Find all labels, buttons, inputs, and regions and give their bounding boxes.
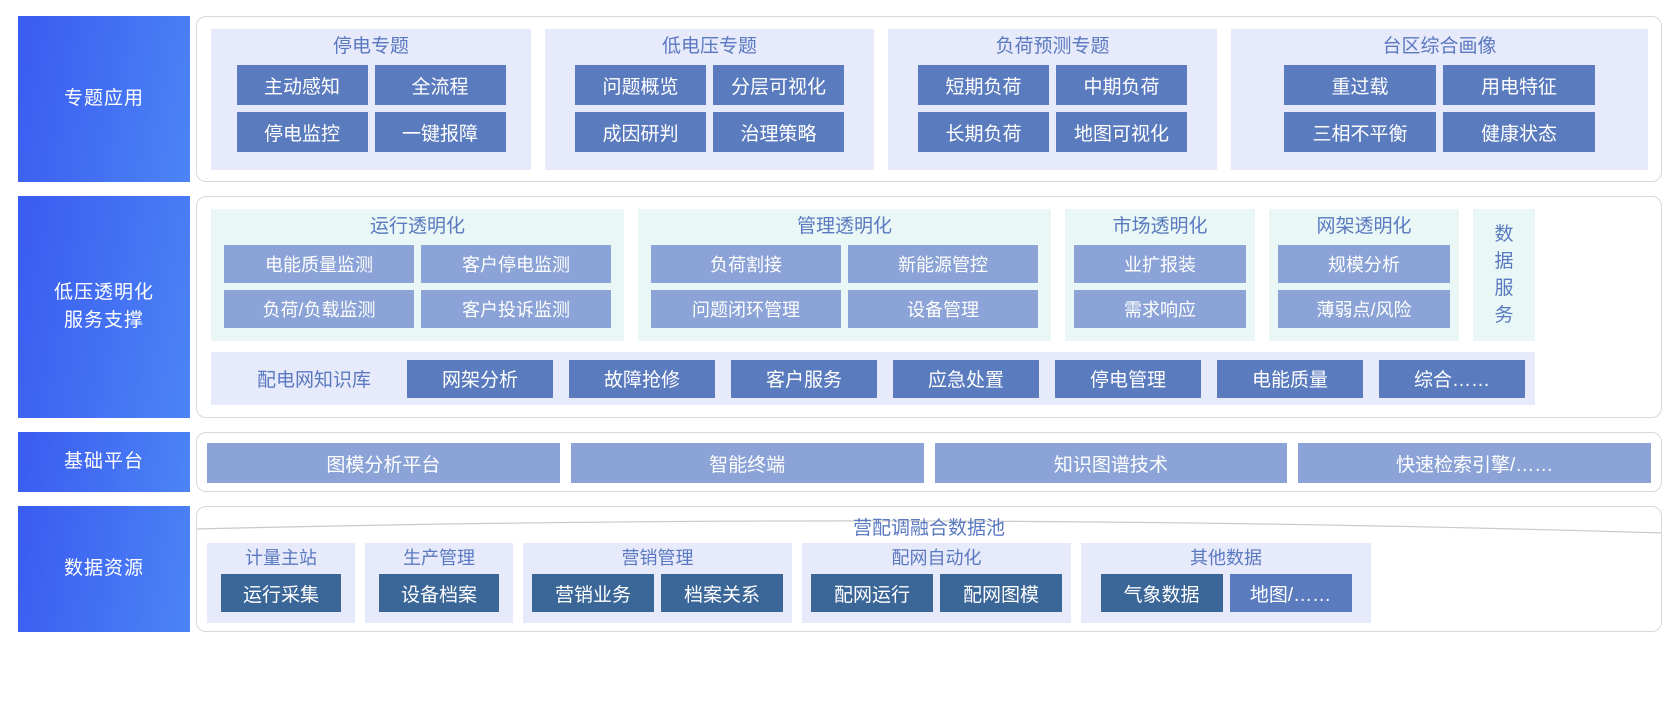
data-source-groups: 计量主站 运行采集 生产管理 设备档案 营销管理 营销业务 档案关系 配网 — [207, 543, 1653, 623]
tile-load-monitor[interactable]: 负荷/负载监测 — [224, 290, 414, 328]
group-production-management[interactable]: 生产管理 设备档案 — [365, 543, 513, 623]
tile-comprehensive[interactable]: 综合…… — [1379, 360, 1525, 398]
tile-layered-visual[interactable]: 分层可视化 — [713, 65, 844, 105]
application-layer-card: 停电专题 主动感知 全流程 停电监控 一键报障 低电压专题 问题概览 分层可视化… — [196, 16, 1662, 182]
tile-grid: 重过载 用电特征 三相不平衡 健康状态 — [1238, 65, 1641, 152]
platform-tiles: 图模分析平台 智能终端 知识图谱技术 快速检索引擎/…… — [207, 443, 1651, 483]
tile-distribution-graph-model[interactable]: 配网图模 — [940, 574, 1062, 612]
tile-outage-management[interactable]: 停电管理 — [1055, 360, 1201, 398]
tile-grid: 营销业务 档案关系 — [530, 574, 785, 612]
group-market-transparency[interactable]: 市场透明化 业扩报装 需求响应 — [1065, 209, 1255, 341]
tile-heavy-overload[interactable]: 重过载 — [1284, 65, 1436, 105]
tile-active-sensing[interactable]: 主动感知 — [237, 65, 368, 105]
tile-customer-complaint-monitor[interactable]: 客户投诉监测 — [421, 290, 611, 328]
tile-scale-analysis[interactable]: 规模分析 — [1278, 245, 1450, 283]
tile-operation-collection[interactable]: 运行采集 — [221, 574, 341, 612]
band-label-data-text: 数据资源 — [64, 555, 144, 583]
band-label-lv-transparency-text: 低压透明化 服务支撑 — [54, 279, 154, 334]
group-marketing-management[interactable]: 营销管理 营销业务 档案关系 — [523, 543, 792, 623]
tile-graph-model-platform[interactable]: 图模分析平台 — [207, 443, 560, 483]
group-title: 其他数据 — [1190, 546, 1262, 570]
tile-usage-feature[interactable]: 用电特征 — [1443, 65, 1595, 105]
tile-weather-data[interactable]: 气象数据 — [1101, 574, 1223, 612]
tile-mid-term-load[interactable]: 中期负荷 — [1056, 65, 1187, 105]
tile-grid-analysis[interactable]: 网架分析 — [407, 360, 553, 398]
tile-grid: 运行采集 — [214, 574, 348, 612]
tile-one-click-report[interactable]: 一键报障 — [375, 112, 506, 152]
knowledge-base-title: 配电网知识库 — [221, 365, 407, 392]
group-other-data[interactable]: 其他数据 气象数据 地图/…… — [1081, 543, 1371, 623]
band-label-platform-text: 基础平台 — [64, 448, 144, 476]
tile-device-management[interactable]: 设备管理 — [848, 290, 1038, 328]
tile-map-visual[interactable]: 地图可视化 — [1056, 112, 1187, 152]
tile-grid: 短期负荷 中期负荷 长期负荷 地图可视化 — [895, 65, 1210, 152]
group-title: 网架透明化 — [1316, 214, 1411, 240]
tile-knowledge-graph-tech[interactable]: 知识图谱技术 — [935, 443, 1288, 483]
tile-customer-outage-monitor[interactable]: 客户停电监测 — [421, 245, 611, 283]
tile-grid: 配网运行 配网图模 — [809, 574, 1064, 612]
tile-three-phase-imbalance[interactable]: 三相不平衡 — [1284, 112, 1436, 152]
tile-demand-response[interactable]: 需求响应 — [1074, 290, 1246, 328]
tile-archive-relation[interactable]: 档案关系 — [661, 574, 783, 612]
group-title: 负荷预测专题 — [995, 34, 1109, 60]
tile-map-data[interactable]: 地图/…… — [1230, 574, 1352, 612]
group-management-transparency[interactable]: 管理透明化 负荷割接 新能源管控 问题闭环管理 设备管理 — [638, 209, 1051, 341]
tile-grid: 电能质量监测 客户停电监测 负荷/负载监测 客户投诉监测 — [218, 245, 617, 328]
tile-emergency-handling[interactable]: 应急处置 — [893, 360, 1039, 398]
tile-smart-terminal[interactable]: 智能终端 — [571, 443, 924, 483]
tile-customer-service[interactable]: 客户服务 — [731, 360, 877, 398]
tile-closed-loop-management[interactable]: 问题闭环管理 — [651, 290, 841, 328]
tile-distribution-operation[interactable]: 配网运行 — [811, 574, 933, 612]
group-metering-master[interactable]: 计量主站 运行采集 — [207, 543, 355, 623]
tile-fast-search-engine[interactable]: 快速检索引擎/…… — [1298, 443, 1651, 483]
knowledge-base-strip: 配电网知识库 网架分析 故障抢修 客户服务 应急处置 停电管理 电能质量 综合…… — [211, 352, 1535, 405]
tile-device-archive[interactable]: 设备档案 — [379, 574, 499, 612]
tile-outage-monitor[interactable]: 停电监控 — [237, 112, 368, 152]
tile-long-term-load[interactable]: 长期负荷 — [918, 112, 1049, 152]
group-load-forecast-topic[interactable]: 负荷预测专题 短期负荷 中期负荷 长期负荷 地图可视化 — [888, 29, 1217, 170]
tile-grid: 主动感知 全流程 停电监控 一键报障 — [218, 65, 524, 152]
group-grid-transparency[interactable]: 网架透明化 规模分析 薄弱点/风险 — [1269, 209, 1459, 341]
tile-cause-analysis[interactable]: 成因研判 — [575, 112, 706, 152]
group-title: 营销管理 — [622, 546, 694, 570]
group-title: 运行透明化 — [370, 214, 465, 240]
tile-short-term-load[interactable]: 短期负荷 — [918, 65, 1049, 105]
group-title: 配网自动化 — [892, 546, 982, 570]
group-title: 台区综合画像 — [1382, 34, 1496, 60]
tile-business-expansion[interactable]: 业扩报装 — [1074, 245, 1246, 283]
group-title: 市场透明化 — [1112, 214, 1207, 240]
group-title: 停电专题 — [333, 34, 409, 60]
tile-power-quality-monitor[interactable]: 电能质量监测 — [224, 245, 414, 283]
data-pool-title: 营配调融合数据池 — [197, 513, 1661, 540]
tile-load-transfer[interactable]: 负荷割接 — [651, 245, 841, 283]
tile-grid: 规模分析 薄弱点/风险 — [1276, 245, 1452, 328]
tile-full-process[interactable]: 全流程 — [375, 65, 506, 105]
tile-marketing-business[interactable]: 营销业务 — [532, 574, 654, 612]
band-label-platform[interactable]: 基础平台 — [18, 432, 190, 492]
group-low-voltage-topic[interactable]: 低电压专题 问题概览 分层可视化 成因研判 治理策略 — [545, 29, 874, 170]
band-label-data[interactable]: 数据资源 — [18, 506, 190, 632]
tile-health-status[interactable]: 健康状态 — [1443, 112, 1595, 152]
tile-grid: 业扩报装 需求响应 — [1072, 245, 1248, 328]
tile-grid: 负荷割接 新能源管控 问题闭环管理 设备管理 — [645, 245, 1044, 328]
tile-problem-overview[interactable]: 问题概览 — [575, 65, 706, 105]
group-station-portrait[interactable]: 台区综合画像 重过载 用电特征 三相不平衡 健康状态 — [1231, 29, 1648, 170]
tile-grid: 问题概览 分层可视化 成因研判 治理策略 — [552, 65, 867, 152]
band-label-lv-transparency[interactable]: 低压透明化 服务支撑 — [18, 196, 190, 418]
tile-power-quality[interactable]: 电能质量 — [1217, 360, 1363, 398]
group-title: 低电压专题 — [662, 34, 757, 60]
group-distribution-automation[interactable]: 配网自动化 配网运行 配网图模 — [802, 543, 1071, 623]
group-operation-transparency[interactable]: 运行透明化 电能质量监测 客户停电监测 负荷/负载监测 客户投诉监测 — [211, 209, 624, 341]
architecture-diagram: 专题应用 低压透明化 服务支撑 基础平台 数据资源 停电专题 主动感知 全流程 … — [0, 0, 1679, 707]
platform-layer-card: 图模分析平台 智能终端 知识图谱技术 快速检索引擎/…… — [196, 432, 1662, 492]
group-title: 计量主站 — [245, 546, 317, 570]
group-title: 管理透明化 — [797, 214, 892, 240]
group-outage-topic[interactable]: 停电专题 主动感知 全流程 停电监控 一键报障 — [211, 29, 531, 170]
knowledge-base-items: 网架分析 故障抢修 客户服务 应急处置 停电管理 电能质量 综合…… — [407, 360, 1525, 398]
transparency-layer-card: 运行透明化 电能质量监测 客户停电监测 负荷/负载监测 客户投诉监测 管理透明化… — [196, 196, 1662, 418]
tile-grid: 设备档案 — [372, 574, 506, 612]
pool-divider-line — [197, 507, 1662, 541]
tile-weak-point-risk[interactable]: 薄弱点/风险 — [1278, 290, 1450, 328]
tile-grid: 气象数据 地图/…… — [1088, 574, 1364, 612]
band-label-application-text: 专题应用 — [64, 85, 144, 113]
data-layer-card: 营配调融合数据池 计量主站 运行采集 生产管理 设备档案 营销管理 营销业务 档… — [196, 506, 1662, 632]
tile-fault-repair[interactable]: 故障抢修 — [569, 360, 715, 398]
group-data-service[interactable]: 数 据 服 务 — [1473, 209, 1535, 341]
tile-new-energy-control[interactable]: 新能源管控 — [848, 245, 1038, 283]
tile-treatment-strategy[interactable]: 治理策略 — [713, 112, 844, 152]
group-title: 生产管理 — [403, 546, 475, 570]
data-service-label: 数 据 服 务 — [1494, 221, 1513, 329]
band-label-application[interactable]: 专题应用 — [18, 16, 190, 182]
